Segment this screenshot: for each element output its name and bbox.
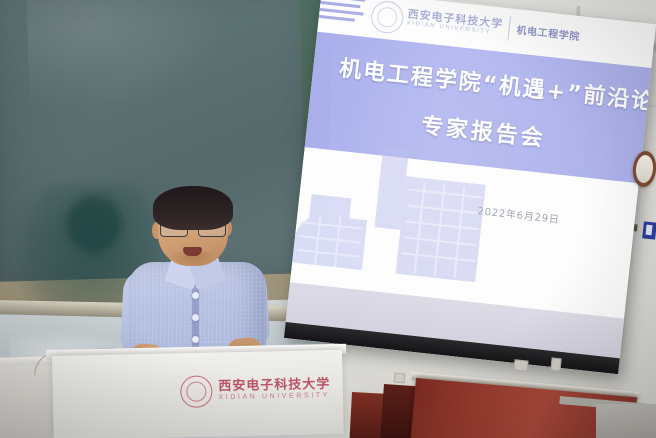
blue-wall-sign: [642, 221, 656, 239]
podium-logo: 西安电子科技大学 XIDIAN UNIVERSITY: [180, 371, 331, 410]
lecture-hall-photo: 西安电子科技大学 XIDIAN UNIVERSITY 机电工程学院 机电工程学院…: [0, 0, 656, 438]
projection-screen: 西安电子科技大学 XIDIAN UNIVERSITY 机电工程学院 机电工程学院…: [284, 0, 656, 374]
chalkboard-glare: [26, 0, 229, 113]
wall-outlet: [394, 372, 406, 383]
clock-face: [635, 154, 655, 184]
slide-stripe-decoration: [318, 0, 367, 33]
shirt-button: [192, 292, 199, 299]
wall-outlet: [550, 358, 561, 372]
wall-outlet: [513, 359, 528, 371]
podium-crest-icon: [180, 375, 213, 408]
podium-university-name-en: XIDIAN UNIVERSITY: [218, 392, 330, 401]
presentation-slide: 西安电子科技大学 XIDIAN UNIVERSITY 机电工程学院 机电工程学院…: [284, 0, 656, 374]
shirt-button: [192, 314, 199, 321]
podium-university-name-cn: 西安电子科技大学: [218, 373, 330, 394]
speaker-shadow-head: [66, 196, 122, 252]
slide-department-name: 机电工程学院: [516, 21, 581, 43]
campus-building-illustration: [290, 137, 495, 307]
slide-header-divider: [507, 16, 511, 40]
shirt-button: [192, 336, 199, 343]
floor: [596, 404, 656, 438]
university-crest-icon: [370, 0, 405, 35]
mouth: [183, 247, 202, 256]
hair: [153, 186, 233, 230]
